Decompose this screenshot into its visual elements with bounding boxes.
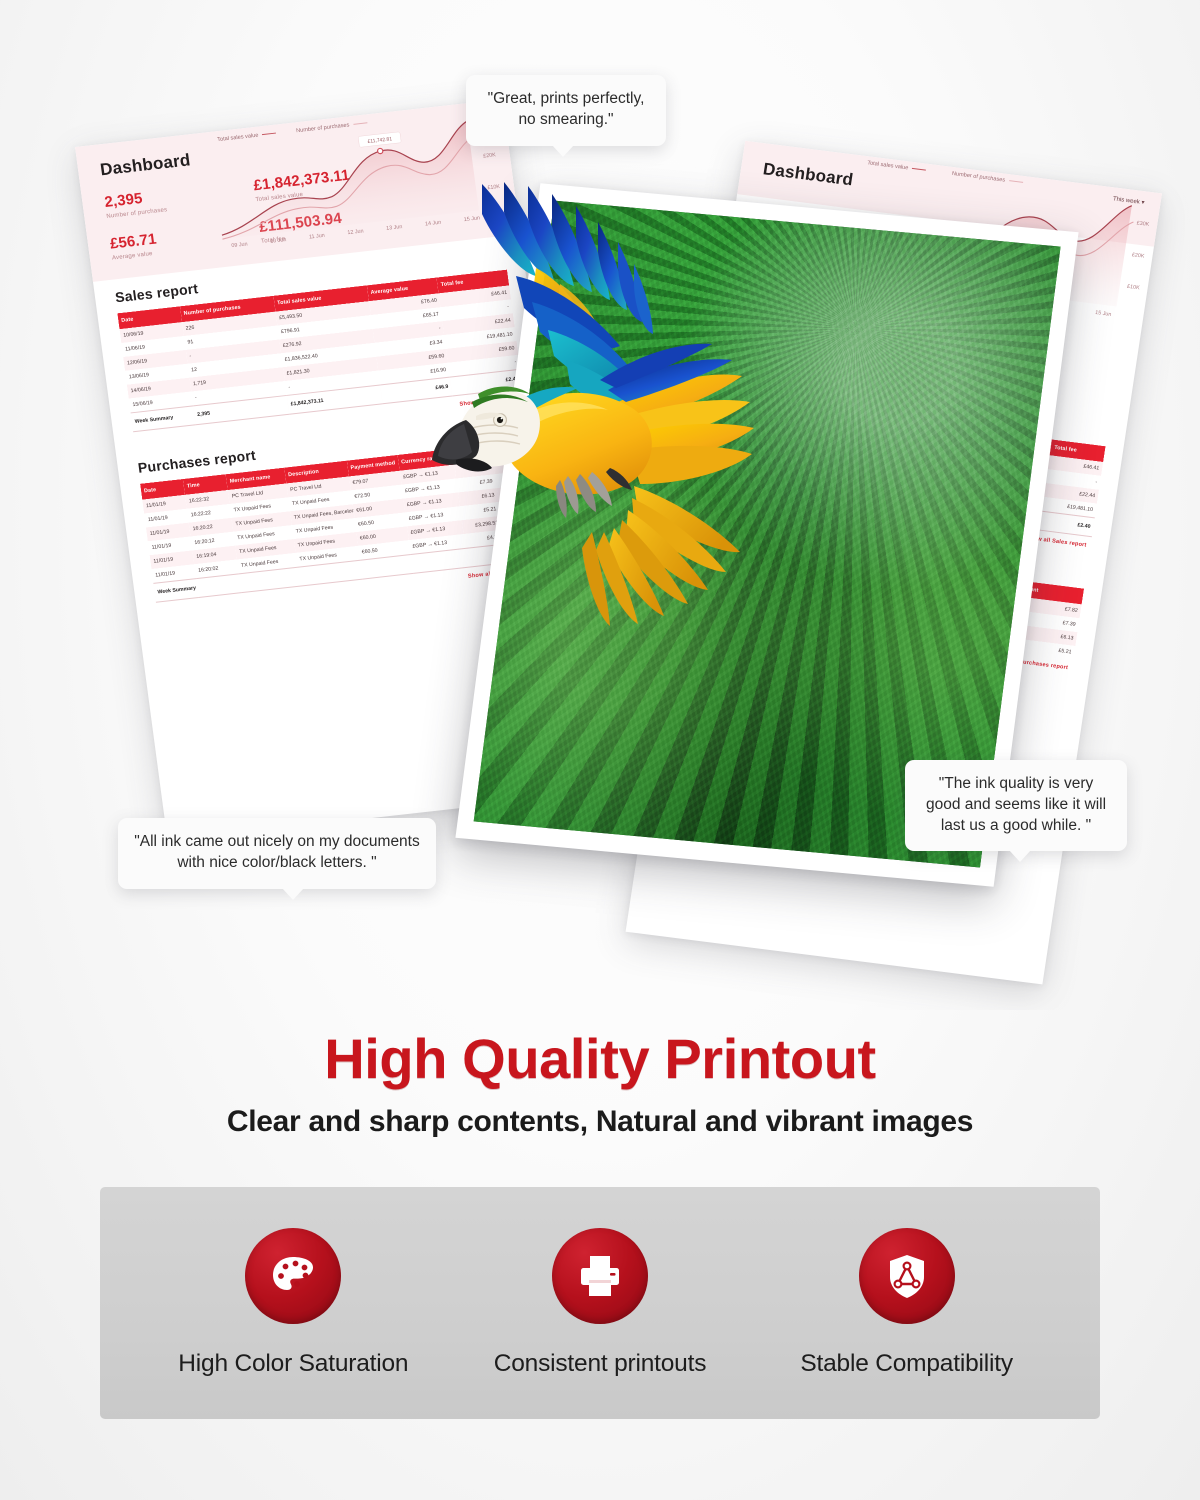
main-headline: High Quality Printout [0,1030,1200,1089]
chart-data-point [377,148,383,154]
palette-icon [268,1251,318,1301]
feature-label: Stable Compatibility [800,1350,1013,1378]
x-tick: 09 Jun [231,241,248,249]
feature-high-color-saturation: High Color Saturation [143,1228,443,1378]
testimonial-bubble-right: "The ink quality is very good and seems … [905,760,1127,851]
sub-headline: Clear and sharp contents, Natural and vi… [0,1105,1200,1139]
testimonial-bubble-top: "Great, prints perfectly, no smearing." [466,75,666,146]
feature-bar: High Color Saturation Consistent printou… [100,1187,1100,1419]
feature-icon-badge [859,1228,955,1324]
x-tick: 13 Jun [386,224,403,232]
legend-swatch [353,122,367,125]
headline-section: High Quality Printout Clear and sharp co… [0,1030,1200,1139]
feature-label: High Color Saturation [178,1350,408,1378]
x-tick: 10 Jun [270,237,287,245]
feature-consistent-printouts: Consistent printouts [450,1228,750,1378]
legend-swatch [912,168,926,171]
testimonial-text: "Great, prints perfectly, no smearing." [488,90,645,128]
testimonial-bubble-left: "All ink came out nicely on my documents… [118,818,436,889]
hero-scene: Dashboard 2,395 Number of purchases £1,8… [0,0,1200,1010]
x-tick: 15 Jun [1095,310,1112,318]
x-tick: 14 Jun [425,220,442,228]
legend-swatch [262,133,276,136]
feature-icon-badge [245,1228,341,1324]
printer-icon [575,1251,625,1301]
testimonial-text: "The ink quality is very good and seems … [926,775,1106,834]
shield-network-icon [882,1251,932,1301]
x-tick: 11 Jun [309,233,325,241]
chart-plot-area: £11,742.81 [192,113,503,246]
testimonial-text: "All ink came out nicely on my documents… [134,833,420,871]
feature-icon-badge [552,1228,648,1324]
legend-swatch [1009,180,1023,183]
feature-label: Consistent printouts [494,1350,707,1378]
feature-stable-compatibility: Stable Compatibility [757,1228,1057,1378]
x-tick: 12 Jun [347,228,364,236]
x-tick: 15 Jun [463,215,480,223]
